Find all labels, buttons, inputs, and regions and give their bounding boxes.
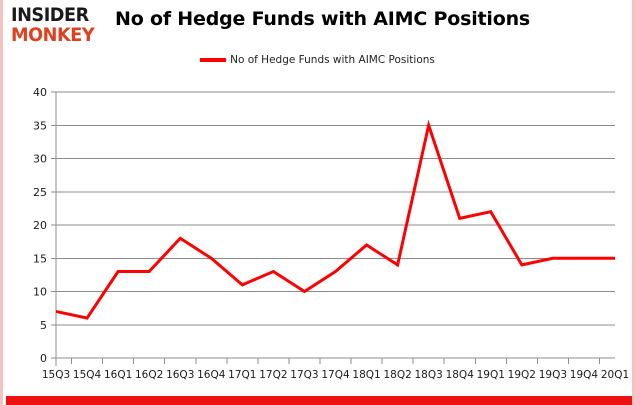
x-axis-tick-label: 18Q2 (383, 369, 411, 381)
y-axis-tick-label: 40 (33, 86, 47, 99)
legend-item-label: No of Hedge Funds with AIMC Positions (230, 54, 435, 66)
x-axis-tick-label: 20Q1 (601, 369, 629, 381)
logo-text-monkey: MONKEY (11, 26, 104, 45)
chart-screenshot: INSIDER MONKEY No of Hedge Funds with AI… (0, 0, 635, 405)
x-axis-tick-label: 17Q1 (228, 369, 256, 381)
plot-area: 051015202530354015Q315Q416Q116Q216Q316Q4… (3, 74, 635, 384)
logo-text-insider: INSIDER (11, 6, 104, 25)
x-axis-tick-label: 19Q2 (508, 369, 536, 381)
y-axis-tick-label: 20 (33, 219, 47, 232)
x-axis-tick-label: 15Q3 (42, 369, 70, 381)
x-axis-tick-label: 16Q4 (197, 369, 226, 381)
x-axis-tick-label: 15Q4 (73, 369, 102, 381)
y-axis-tick-label: 15 (33, 252, 47, 265)
x-axis-tick-label: 16Q3 (166, 369, 194, 381)
data-series-line-0 (56, 125, 615, 318)
chart-legend: No of Hedge Funds with AIMC Positions (3, 54, 632, 66)
x-axis-tick-label: 18Q4 (446, 369, 475, 381)
footer-accent-bar (6, 396, 635, 405)
y-axis-tick-label: 30 (33, 153, 47, 166)
x-axis-tick-label: 19Q4 (570, 369, 599, 381)
y-axis-tick-label: 10 (33, 286, 47, 299)
x-axis-tick-label: 18Q3 (415, 369, 443, 381)
x-axis-tick-label: 17Q2 (259, 369, 287, 381)
x-axis-tick-label: 19Q1 (477, 369, 505, 381)
legend-color-swatch (200, 58, 226, 62)
x-axis-tick-label: 17Q3 (290, 369, 318, 381)
y-axis-tick-label: 0 (40, 352, 47, 365)
x-axis-tick-label: 17Q4 (321, 369, 350, 381)
line-chart-svg: 051015202530354015Q315Q416Q116Q216Q316Q4… (3, 74, 635, 384)
insider-monkey-logo: INSIDER MONKEY (11, 6, 111, 45)
chart-header: INSIDER MONKEY No of Hedge Funds with AI… (3, 0, 632, 48)
page-title: No of Hedge Funds with AIMC Positions (115, 8, 530, 30)
y-axis-tick-label: 5 (40, 319, 47, 332)
x-axis-tick-label: 16Q1 (104, 369, 132, 381)
y-axis-tick-label: 35 (33, 119, 47, 132)
x-axis-tick-label: 19Q3 (539, 369, 567, 381)
x-axis-tick-label: 16Q2 (135, 369, 163, 381)
y-axis-tick-label: 25 (33, 186, 47, 199)
x-axis-tick-label: 18Q1 (352, 369, 380, 381)
